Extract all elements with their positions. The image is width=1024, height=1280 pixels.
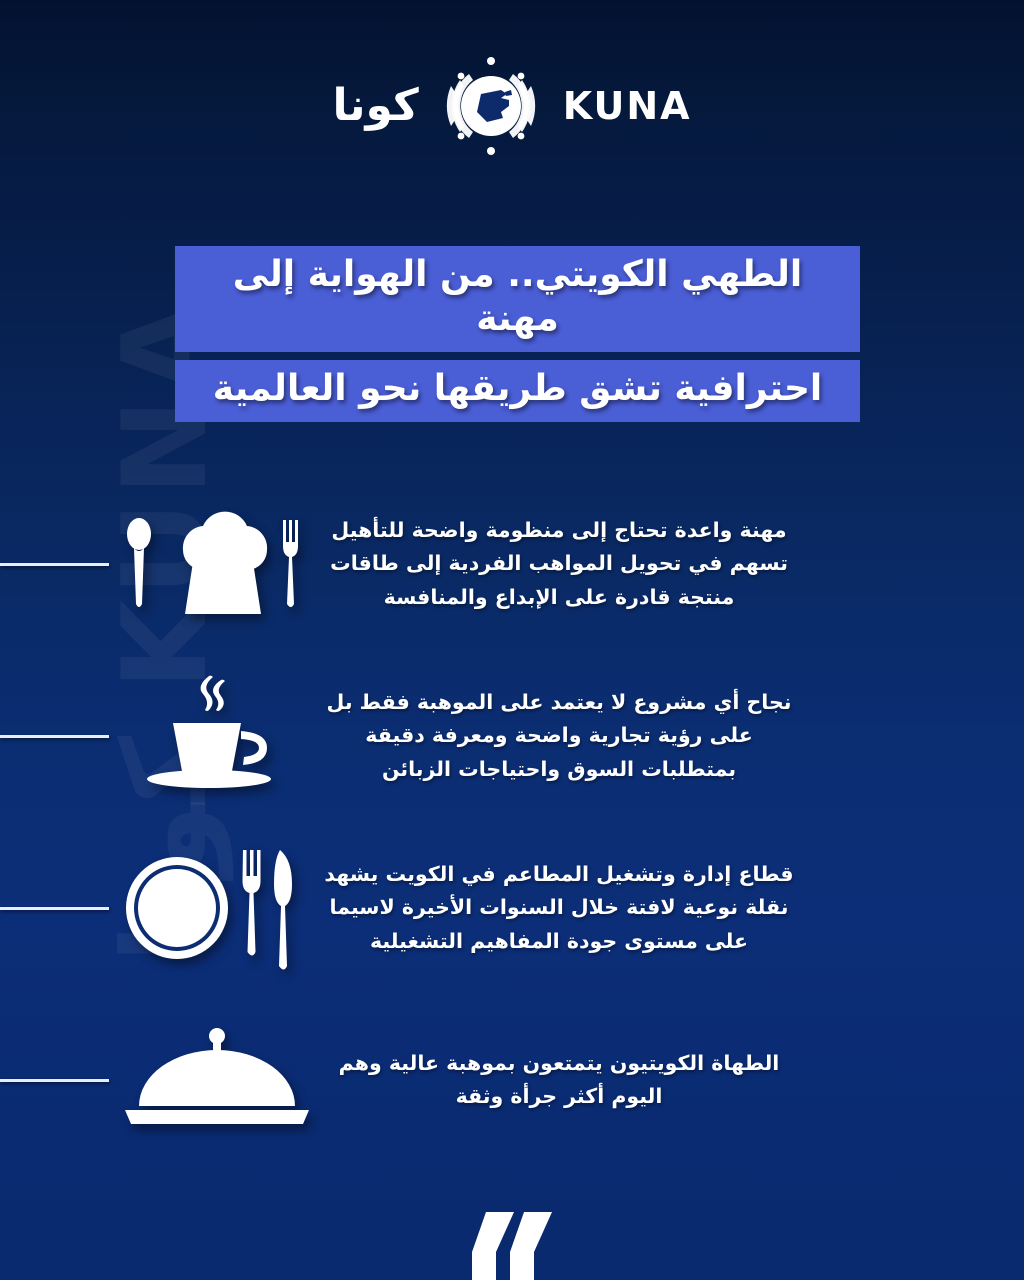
divider-line <box>0 907 109 910</box>
divider-line <box>0 563 109 566</box>
divider-line <box>0 1079 109 1082</box>
cloche-icon <box>109 1020 324 1140</box>
divider-line <box>0 735 109 738</box>
logo-arabic-text: كونا <box>332 84 418 128</box>
page-title: الطهي الكويتي.. من الهواية إلى مهنة احتر… <box>175 246 860 422</box>
fact-text: مهنة واعدة تحتاج إلى منظومة واضحة للتأهي… <box>324 514 794 614</box>
list-item: مهنة واعدة تحتاج إلى منظومة واضحة للتأهي… <box>0 478 1024 650</box>
infographic-poster: KUNA كونا KUNA <box>0 0 1024 1280</box>
list-item: نجاح أي مشروع لا يعتمد على الموهبة فقط ب… <box>0 650 1024 822</box>
title-line-2: احترافية تشق طريقها نحو العالمية <box>175 360 860 422</box>
fact-text: نجاح أي مشروع لا يعتمد على الموهبة فقط ب… <box>324 686 794 786</box>
fact-text: الطهاة الكويتيون يتمتعون بموهبة عالية وه… <box>324 1047 794 1113</box>
list-item: الطهاة الكويتيون يتمتعون بموهبة عالية وه… <box>0 994 1024 1166</box>
quotation-mark-icon <box>0 1202 1024 1280</box>
kuna-globe-logo-icon <box>439 54 543 158</box>
title-line-1: الطهي الكويتي.. من الهواية إلى مهنة <box>175 246 860 352</box>
header-logo: KUNA <box>0 56 1024 156</box>
logo-latin-text: KUNA <box>563 87 692 125</box>
plate-cutlery-icon <box>109 844 324 972</box>
list-item: قطاع إدارة وتشغيل المطاعم في الكويت يشهد… <box>0 822 1024 994</box>
chef-hat-icon <box>109 504 324 624</box>
fact-text: قطاع إدارة وتشغيل المطاعم في الكويت يشهد… <box>324 858 794 958</box>
coffee-cup-icon <box>109 671 324 801</box>
facts-list: مهنة واعدة تحتاج إلى منظومة واضحة للتأهي… <box>0 478 1024 1166</box>
